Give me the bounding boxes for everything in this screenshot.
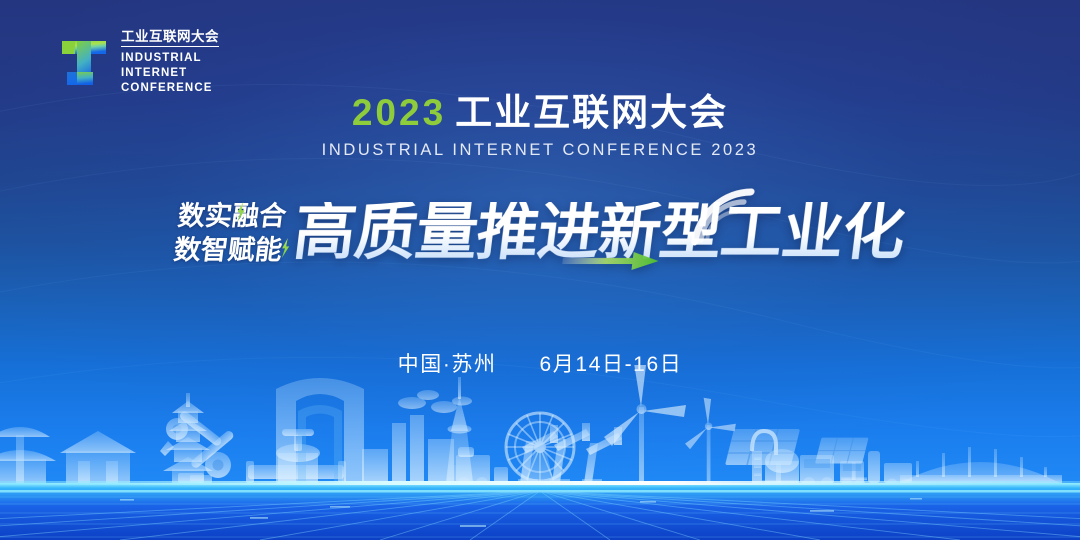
bridge-icon xyxy=(900,447,1062,483)
slogan-secondary: 数实融合 数智赋能 xyxy=(172,203,287,264)
logo-en-line-2: INTERNET xyxy=(121,66,219,81)
wind-turbine-icon xyxy=(604,365,686,483)
hall-icon xyxy=(60,431,136,483)
pavilion-icon xyxy=(0,427,56,483)
oil-pump-icon xyxy=(518,423,622,484)
robot-arm-icon xyxy=(160,409,235,483)
ground-plane xyxy=(0,483,1080,540)
smokestack-icon xyxy=(398,390,472,413)
tv-tower-icon xyxy=(446,377,473,483)
horizon-line xyxy=(0,481,1080,485)
slogan-secondary-line-2-text: 数智赋能 xyxy=(172,235,284,265)
event-meta-line: 中国·苏州 6月14日-16日 xyxy=(0,348,1080,378)
logo-chinese-name: 工业互联网大会 xyxy=(121,30,219,47)
perspective-grid-rows xyxy=(0,497,1080,537)
slogan-main-text: 高质量推进新型工业化 xyxy=(290,198,908,267)
landmark-silhouettes xyxy=(0,365,869,503)
conference-banner: 工业互联网大会 INDUSTRIAL INTERNET CONFERENCE 2… xyxy=(0,0,1080,540)
logo-en-line-1: INDUSTRIAL xyxy=(121,51,219,66)
horizon-glow xyxy=(0,490,1080,493)
logo-text-block: 工业互联网大会 INDUSTRIAL INTERNET CONFERENCE xyxy=(121,30,219,96)
slogan-block: 数实融合 数智赋能 高质量推进新型工业化 xyxy=(0,183,1080,283)
event-dates: 6月14日-16日 xyxy=(540,353,683,376)
ground-sparkles xyxy=(120,498,922,527)
title-chinese: 工业互联网大会 xyxy=(455,92,728,133)
slogan-secondary-line-1: 数实融合 xyxy=(176,203,287,230)
perspective-grid-lines xyxy=(0,491,1080,540)
logo-lockup: 工业互联网大会 INDUSTRIAL INTERNET CONFERENCE xyxy=(58,30,219,96)
page-title: 2023工业互联网大会 xyxy=(0,92,1080,133)
slogan-secondary-line-1-text: 数实融合 xyxy=(176,201,288,231)
gate-of-the-orient-icon xyxy=(276,378,364,483)
skyline-silhouettes xyxy=(160,390,622,489)
conference-logo-mark xyxy=(58,37,110,89)
storage-tank-icon xyxy=(752,431,799,483)
slogan-secondary-line-2: 数智赋能 xyxy=(172,237,283,264)
ferris-wheel-icon xyxy=(506,413,574,483)
title-subtitle-english: INDUSTRIAL INTERNET CONFERENCE 2023 xyxy=(0,141,1080,160)
logo-english-name: INDUSTRIAL INTERNET CONFERENCE xyxy=(121,51,219,97)
title-year: 2023 xyxy=(352,92,446,133)
factory-icon xyxy=(362,415,508,489)
solar-panel-icon xyxy=(725,429,800,484)
city-skyline-scene xyxy=(0,365,1080,540)
pagoda-icon xyxy=(163,393,213,483)
slogan-main: 高质量推进新型工业化 xyxy=(290,202,908,264)
truck-icon xyxy=(800,451,912,490)
wind-turbine-icon xyxy=(685,398,736,503)
event-location: 中国·苏州 xyxy=(398,353,497,376)
title-block: 2023工业互联网大会 INDUSTRIAL INTERNET CONFEREN… xyxy=(0,92,1080,160)
right-industrial-cluster xyxy=(752,431,1062,490)
solar-panel-icon xyxy=(815,438,869,481)
pipe-valve-icon xyxy=(246,429,346,483)
